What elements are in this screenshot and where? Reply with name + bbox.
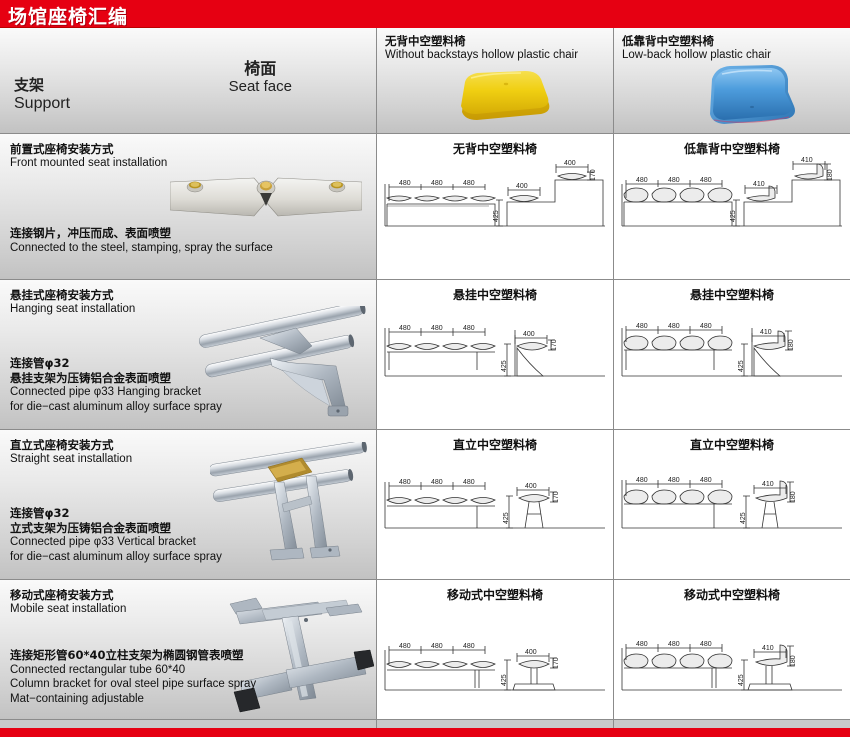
vertical-bracket-photo [210, 442, 376, 564]
dim-pitch-3: 480 [463, 325, 475, 332]
dim-seat-depth: 400 [525, 483, 537, 490]
dim-seat-depth-up: 400 [564, 160, 576, 167]
grid-hline-3 [0, 429, 850, 430]
dim-pitch-1: 480 [399, 643, 411, 650]
drawing-mobile-no-back: 移动式中空塑料椅 480 480 480 [377, 580, 613, 719]
support-heading: 支架 Support [14, 76, 70, 113]
dim-pitch-2: 480 [668, 177, 680, 184]
dim-pitch-1: 480 [636, 323, 648, 330]
row-mobile-note-en2: Column bracket for oval steel pipe surfa… [10, 677, 256, 692]
row-mobile-note-cn: 连接矩形管60*40立柱支架为椭圆钢管表喷塑 [10, 648, 256, 663]
dim-seat-depth: 400 [523, 331, 535, 338]
dim-thickness: 180 [790, 491, 797, 503]
dim-pitch-2: 480 [431, 479, 443, 486]
grid-hline-2 [0, 279, 850, 280]
column-header-no-back-label: 无背中空塑料椅 Without backstays hollow plastic… [385, 34, 578, 63]
row-front-description: 前置式座椅安装方式 Front mounted seat installatio… [0, 134, 376, 279]
blue-seat-photo [694, 62, 804, 128]
seat-face-heading: 椅面 Seat face [229, 60, 292, 96]
drawing-front-low-back: 低靠背中空塑料椅 480 480 480 [614, 134, 850, 279]
grid-hline-1 [0, 133, 850, 134]
drawing-straight-no-back-svg: 480 480 480 400 425 170 [377, 430, 613, 579]
row-front-title: 前置式座椅安装方式 Front mounted seat installatio… [10, 142, 167, 171]
dim-seat-depth-up: 410 [801, 157, 813, 164]
row-mobile-note-en3: Mat−containing adjustable [10, 692, 256, 707]
dim-pitch-2: 480 [668, 323, 680, 330]
support-heading-en: Support [14, 94, 70, 113]
row-straight-description: 直立式座椅安装方式 Straight seat installation [0, 430, 376, 579]
dim-pitch-2: 480 [431, 643, 443, 650]
row-hanging-note: 连接管φ32 悬挂支架为压铸铝合金表面喷塑 Connected pipe φ33… [10, 356, 222, 415]
dim-pitch-2: 480 [431, 325, 443, 332]
drawing-mobile-low-back: 移动式中空塑料椅 480 480 480 [614, 580, 850, 719]
dim-height: 425 [740, 512, 747, 524]
dim-seat-depth-low: 400 [516, 183, 528, 190]
column-header-no-back-cn: 无背中空塑料椅 [385, 34, 578, 48]
dim-pitch-3: 480 [700, 477, 712, 484]
row-hanging-description: 悬挂式座椅安装方式 Hanging seat installation [0, 280, 376, 429]
drawing-mobile-low-back-svg: 480 480 480 410 425 180 [614, 580, 850, 719]
dim-pitch-3: 480 [463, 479, 475, 486]
drawing-straight-no-back: 直立中空塑料椅 480 480 480 [377, 430, 613, 579]
drawing-mobile-no-back-svg: 480 480 480 400 425 170 [377, 580, 613, 719]
row-front-title-en: Front mounted seat installation [10, 156, 167, 170]
dim-height: 425 [730, 210, 737, 222]
dim-height: 425 [738, 360, 745, 372]
drawing-hanging-no-back-svg: 480 480 480 400 425 170 [377, 280, 613, 429]
dim-height: 425 [501, 360, 508, 372]
steel-plate-bracket-photo [170, 176, 362, 222]
column-header-low-back-cn: 低靠背中空塑料椅 [622, 34, 771, 48]
title-bar: 场馆座椅汇编 [0, 0, 850, 28]
row-mobile-title-cn: 移动式座椅安装方式 [10, 588, 126, 602]
dim-seat-depth: 410 [760, 329, 772, 336]
dim-pitch-3: 480 [463, 180, 475, 187]
page-title: 场馆座椅汇编 [8, 2, 128, 29]
dim-pitch-1: 480 [399, 479, 411, 486]
drawing-hanging-no-back: 悬挂中空塑料椅 480 480 480 [377, 280, 613, 429]
dim-height: 425 [738, 674, 745, 686]
row-straight-note-cn2: 立式支架为压铸铝合金表面喷塑 [10, 521, 222, 536]
row-hanging-title-cn: 悬挂式座椅安装方式 [10, 288, 135, 302]
seat-face-heading-en: Seat face [229, 78, 292, 95]
dim-pitch-2: 480 [668, 477, 680, 484]
drawing-hanging-low-back-svg: 480 480 480 410 425 180 [614, 280, 850, 429]
dim-pitch-1: 480 [399, 325, 411, 332]
row-front-note-en: Connected to the steel, stamping, spray … [10, 241, 273, 256]
dim-pitch-3: 480 [463, 643, 475, 650]
dim-pitch-2: 480 [431, 180, 443, 187]
dim-seat-depth: 410 [762, 645, 774, 652]
dim-pitch-3: 480 [700, 641, 712, 648]
dim-height: 425 [501, 674, 508, 686]
dim-pitch-1: 480 [636, 177, 648, 184]
drawing-straight-low-back: 直立中空塑料椅 480 480 480 [614, 430, 850, 579]
dim-pitch-2: 480 [668, 641, 680, 648]
drawing-front-no-back: 无背中空塑料椅 [377, 134, 613, 279]
row-straight-note-en: Connected pipe φ33 Vertical bracket [10, 535, 222, 550]
column-header-low-back-label: 低靠背中空塑料椅 Low-back hollow plastic chair [622, 34, 771, 63]
dim-pitch-3: 480 [700, 323, 712, 330]
dim-pitch-1: 480 [636, 477, 648, 484]
column-header-no-back: 无背中空塑料椅 Without backstays hollow plastic… [377, 28, 613, 133]
grid-hline-4 [0, 579, 850, 580]
column-header-low-back-en: Low-back hollow plastic chair [622, 48, 771, 62]
row-mobile-note: 连接矩形管60*40立柱支架为椭圆钢管表喷塑 Connected rectang… [10, 648, 256, 707]
yellow-seat-photo [449, 68, 554, 126]
dim-thickness: 170 [590, 169, 597, 181]
dim-height: 425 [503, 512, 510, 524]
row-straight-title-cn: 直立式座椅安装方式 [10, 438, 132, 452]
row-mobile-title-en: Mobile seat installation [10, 602, 126, 616]
row-front-note-cn: 连接钢片，冲压而成、表面喷塑 [10, 226, 273, 241]
row-straight-title-en: Straight seat installation [10, 452, 132, 466]
row-mobile-title: 移动式座椅安装方式 Mobile seat installation [10, 588, 126, 617]
dim-thickness: 180 [790, 655, 797, 667]
row-hanging-title-en: Hanging seat installation [10, 302, 135, 316]
support-header-cell: 椅面 Seat face 支架 Support [0, 28, 376, 133]
row-front-note: 连接钢片，冲压而成、表面喷塑 Connected to the steel, s… [10, 226, 273, 255]
dim-seat-depth: 400 [525, 649, 537, 656]
dim-thickness: 170 [551, 339, 558, 351]
drawing-hanging-low-back: 悬挂中空塑料椅 480 480 480 [614, 280, 850, 429]
grid-hline-5 [0, 719, 850, 720]
seat-face-heading-cn: 椅面 [229, 60, 292, 78]
column-header-low-back: 低靠背中空塑料椅 Low-back hollow plastic chair [614, 28, 850, 133]
column-header-no-back-en: Without backstays hollow plastic chair [385, 48, 578, 62]
row-hanging-title: 悬挂式座椅安装方式 Hanging seat installation [10, 288, 135, 317]
title-bar-fill [160, 0, 850, 28]
drawing-front-low-back-svg: 480 480 480 410 410 425 180 [614, 134, 850, 279]
drawing-straight-low-back-svg: 480 480 480 410 425 180 [614, 430, 850, 579]
dim-seat-depth: 410 [762, 481, 774, 488]
dim-pitch-1: 480 [399, 180, 411, 187]
row-hanging-note-cn: 连接管φ32 [10, 356, 222, 371]
hanging-bracket-photo [196, 306, 376, 422]
row-mobile-description: 移动式座椅安装方式 Mobile seat installation 连接矩形管… [0, 580, 376, 719]
dim-pitch-1: 480 [636, 641, 648, 648]
row-straight-note: 连接管φ32 立式支架为压铸铝合金表面喷塑 Connected pipe φ33… [10, 506, 222, 565]
row-hanging-note-en2: for die−cast aluminum alloy surface spra… [10, 400, 222, 415]
row-straight-note-cn: 连接管φ32 [10, 506, 222, 521]
row-mobile-note-en: Connected rectangular tube 60*40 [10, 663, 256, 678]
dim-thickness: 180 [827, 169, 834, 181]
catalog-grid: 椅面 Seat face 支架 Support 无背中空塑料椅 Without … [0, 28, 850, 728]
drawing-front-no-back-svg: 480 480 480 400 400 425 [377, 134, 613, 279]
row-front-title-cn: 前置式座椅安装方式 [10, 142, 167, 156]
row-straight-note-en2: for die−cast aluminum alloy surface spra… [10, 550, 222, 565]
row-hanging-note-en: Connected pipe φ33 Hanging bracket [10, 385, 222, 400]
support-heading-cn: 支架 [14, 76, 70, 94]
row-straight-title: 直立式座椅安装方式 Straight seat installation [10, 438, 132, 467]
dim-seat-depth-low: 410 [753, 181, 765, 188]
catalog-page: 场馆座椅汇编 椅面 Seat face 支架 Support 无背中空塑料椅 W… [0, 0, 850, 737]
row-hanging-note-cn2: 悬挂支架为压铸铝合金表面喷塑 [10, 371, 222, 386]
dim-pitch-3: 480 [700, 177, 712, 184]
dim-thickness: 180 [788, 339, 795, 351]
dim-thickness: 170 [553, 657, 560, 669]
bottom-red-bar [0, 728, 850, 737]
dim-height: 425 [493, 210, 500, 222]
dim-thickness: 170 [553, 491, 560, 503]
